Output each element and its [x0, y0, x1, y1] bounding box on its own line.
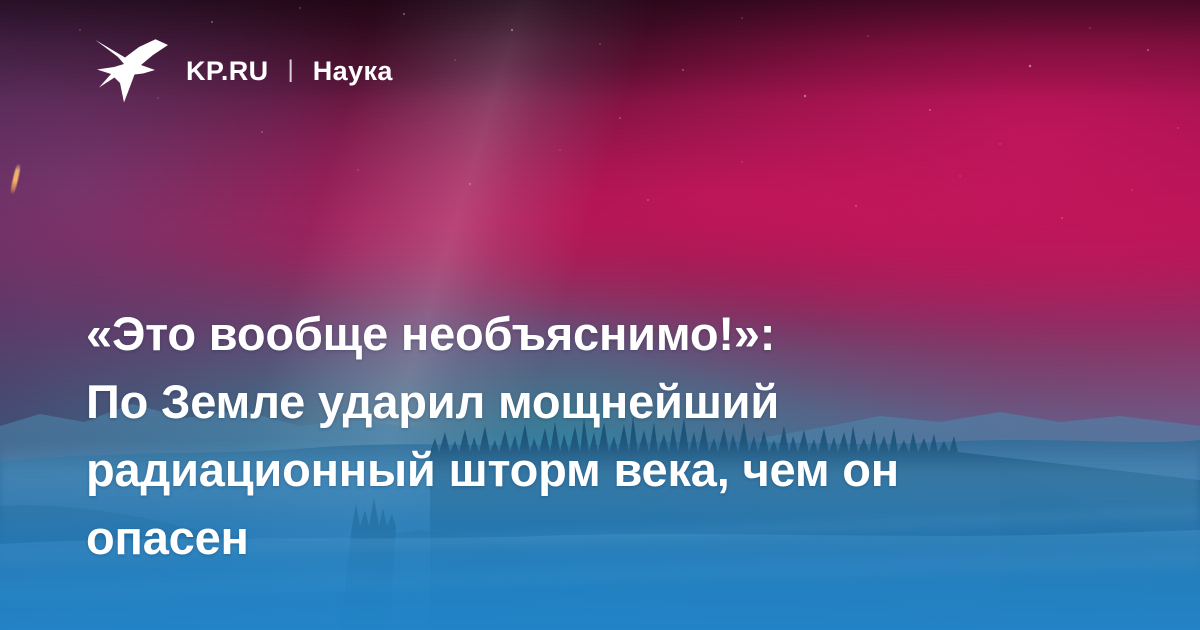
brand-separator: |: [288, 58, 294, 82]
headline-line-2: По Земле ударил мощнейший: [86, 368, 1096, 436]
article-share-card: KP.RU | Наука «Это вообще необъяснимо!»:…: [0, 0, 1200, 630]
headline-line-3: радиационный шторм века, чем он: [86, 436, 1096, 504]
article-headline: «Это вообще необъяснимо!»: По Земле удар…: [86, 300, 1096, 572]
brand-lockup[interactable]: KP.RU | Наука: [186, 58, 393, 85]
headline-line-1: «Это вообще необъяснимо!»:: [86, 300, 1096, 368]
headline-line-4: опасен: [86, 504, 1096, 572]
section-name[interactable]: Наука: [313, 58, 393, 85]
site-header[interactable]: KP.RU | Наука: [94, 38, 393, 104]
brand-name[interactable]: KP.RU: [186, 58, 269, 85]
swallow-bird-logo-icon[interactable]: [94, 38, 172, 104]
